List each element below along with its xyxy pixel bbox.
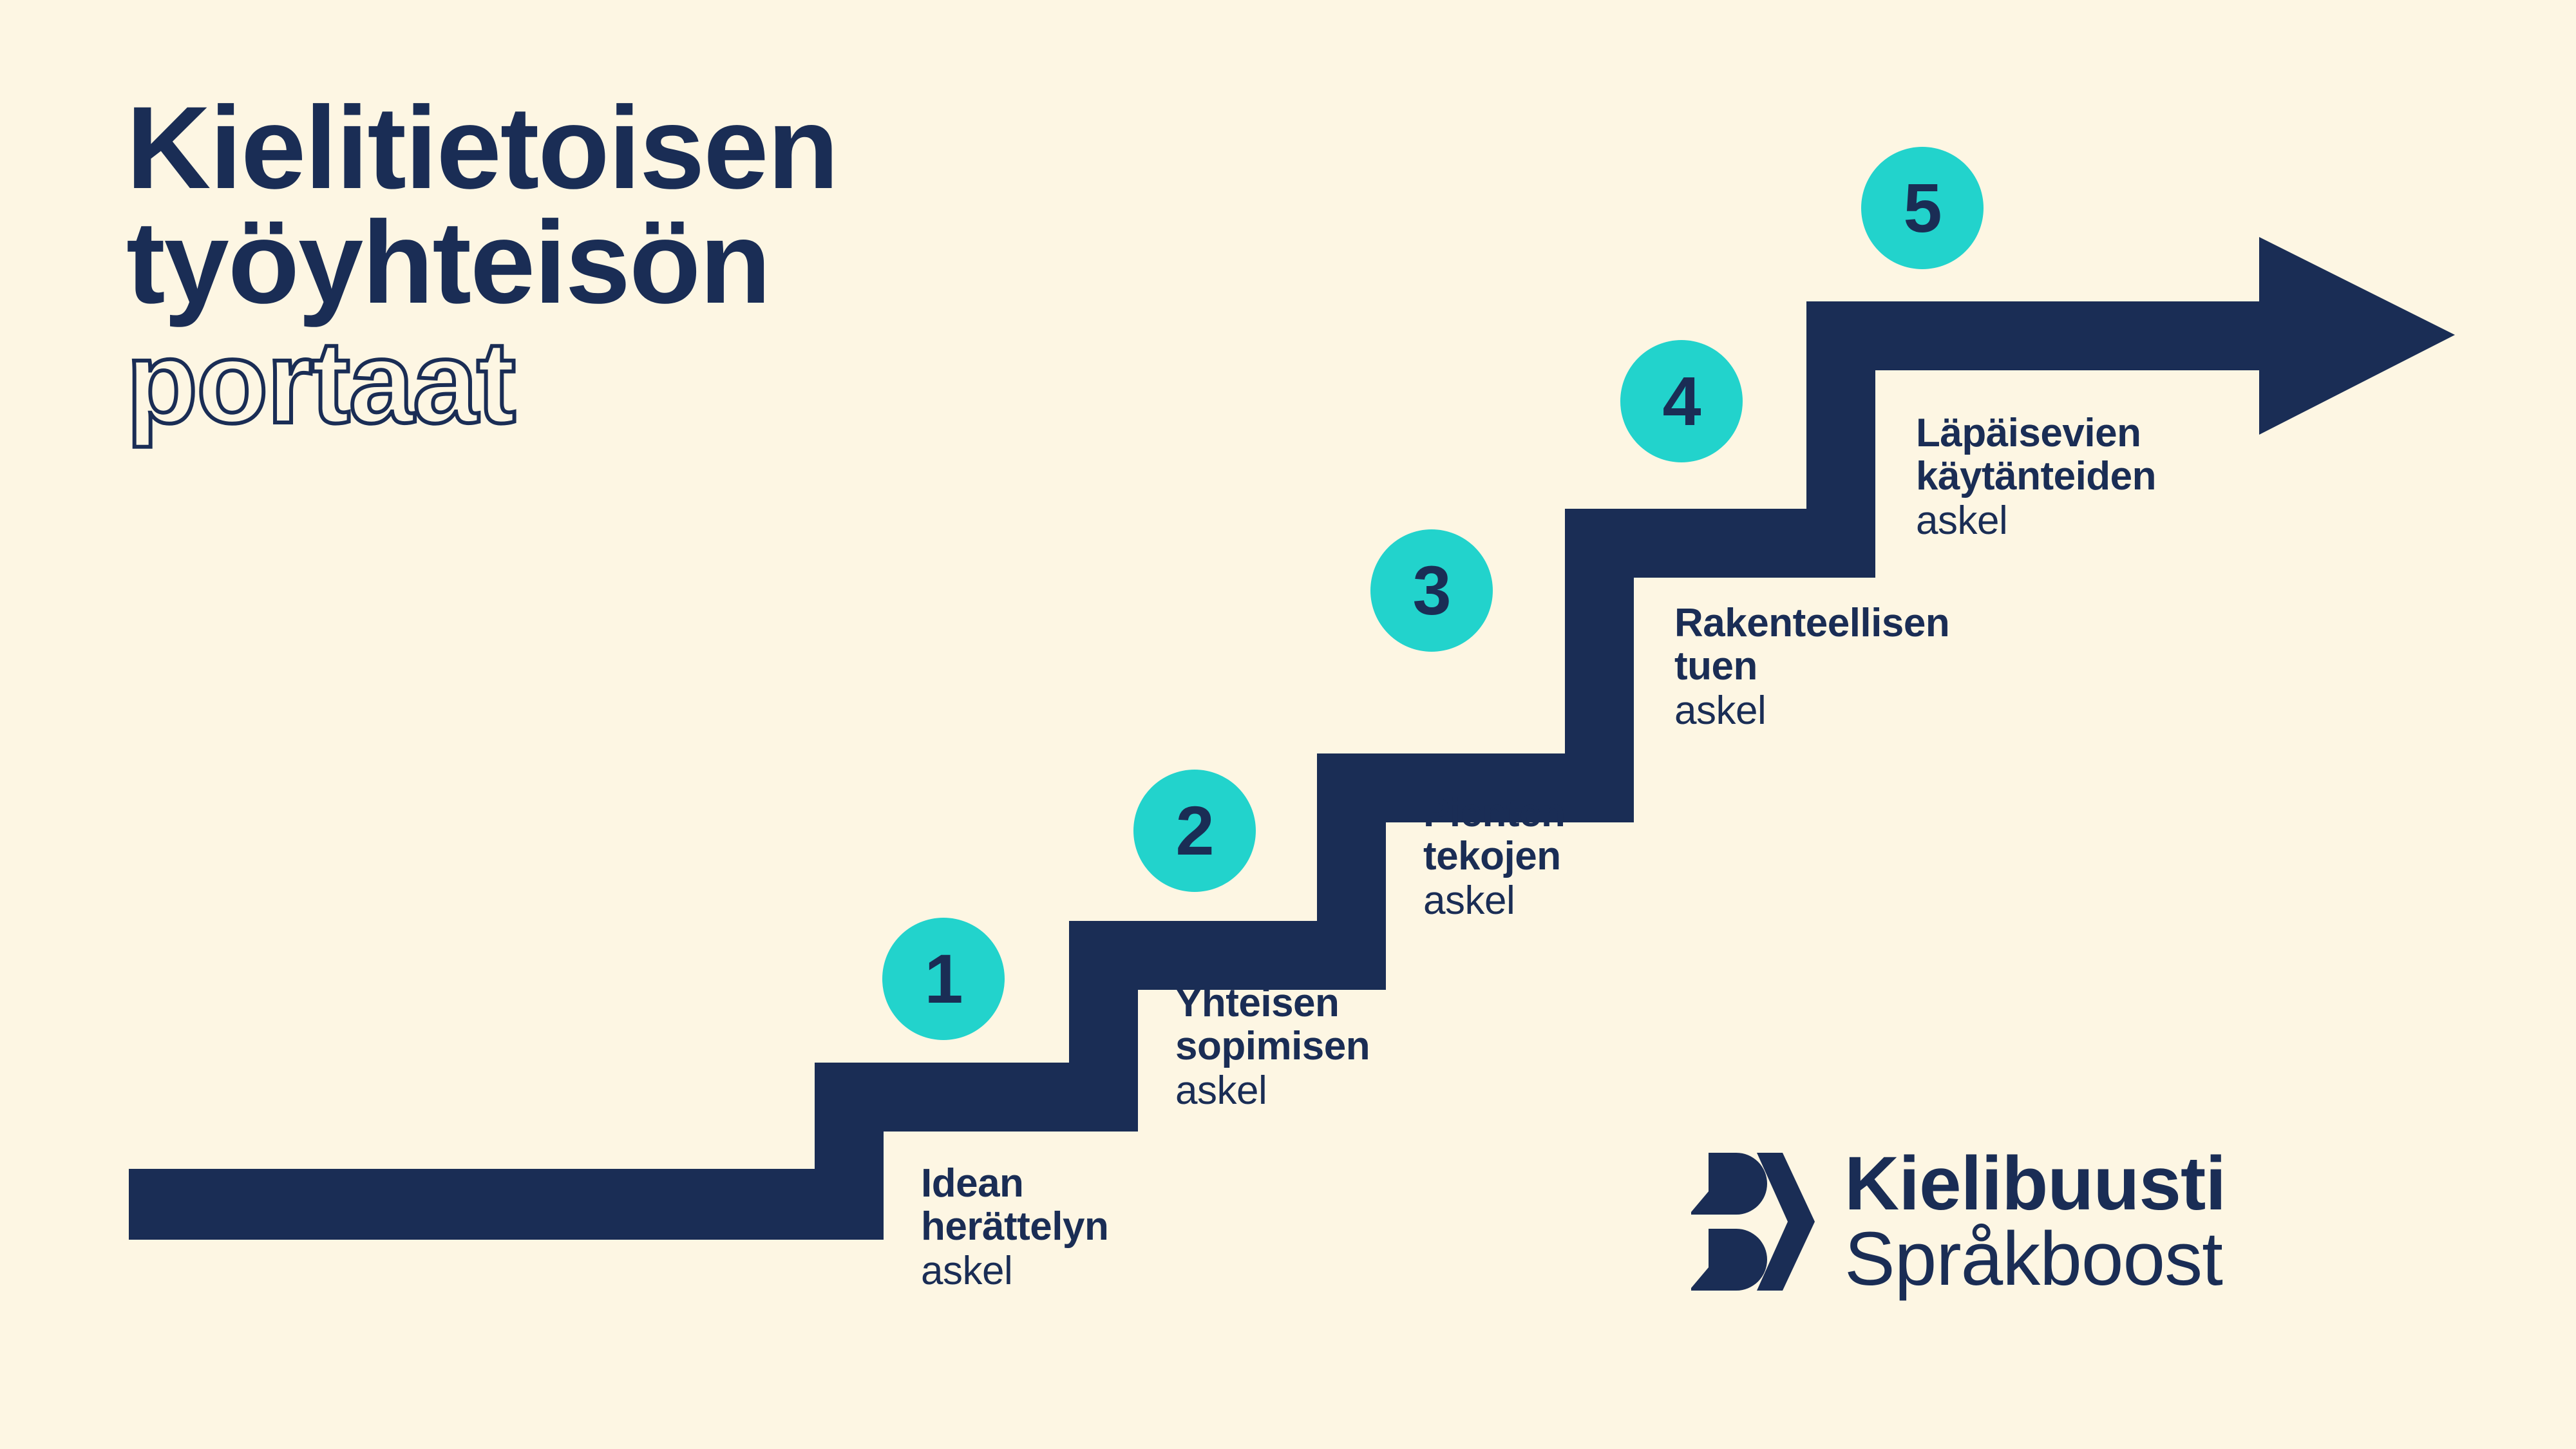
step-badge-2[interactable]: 2 [1133, 770, 1256, 892]
kielibuusti-logo[interactable]: Kielibuusti Språkboost [1680, 1146, 2226, 1297]
step-badge-1-number: 1 [924, 944, 962, 1014]
step-label-4-subtitle: askel [1674, 688, 1949, 733]
step-label-2: Yhteisen sopimisen askel [1175, 982, 1370, 1113]
step-badge-4[interactable]: 4 [1620, 340, 1743, 462]
step-label-5: Läpäisevien käytänteiden askel [1916, 412, 2156, 543]
step-label-5-line-1: Läpäisevien [1916, 412, 2156, 455]
step-label-5-subtitle: askel [1916, 498, 2156, 543]
step-label-2-subtitle: askel [1175, 1068, 1370, 1113]
step-label-3-line-2: tekojen [1423, 835, 1565, 878]
step-label-4-line-2: tuen [1674, 645, 1949, 688]
step-label-2-line-1: Yhteisen [1175, 982, 1370, 1025]
step-label-3-line-1: Pienten [1423, 792, 1565, 835]
logo-wordmark: Kielibuusti Språkboost [1844, 1146, 2226, 1297]
step-badge-2-number: 2 [1175, 796, 1213, 866]
step-label-3: Pienten tekojen askel [1423, 792, 1565, 923]
step-badge-5[interactable]: 5 [1861, 147, 1984, 269]
step-label-3-subtitle: askel [1423, 878, 1565, 923]
step-label-4-line-1: Rakenteellisen [1674, 602, 1949, 645]
step-badge-1[interactable]: 1 [882, 918, 1005, 1040]
logo-name-sv: Språkboost [1844, 1222, 2226, 1297]
step-label-4: Rakenteellisen tuen askel [1674, 602, 1949, 733]
infographic-canvas: Kielitietoisen työyhteisön portaat 1 2 3… [0, 0, 2576, 1449]
step-badge-3[interactable]: 3 [1370, 529, 1493, 652]
step-label-2-line-2: sopimisen [1175, 1025, 1370, 1068]
kielibuusti-b-chevron-icon [1680, 1148, 1815, 1296]
step-badge-5-number: 5 [1903, 173, 1941, 243]
step-label-5-line-2: käytänteiden [1916, 455, 2156, 498]
step-label-1-line-1: Idean [921, 1162, 1108, 1206]
logo-name-fi: Kielibuusti [1844, 1146, 2226, 1222]
step-label-1-subtitle: askel [921, 1249, 1108, 1293]
step-badge-4-number: 4 [1662, 366, 1700, 436]
step-label-1-line-2: herättelyn [921, 1206, 1108, 1249]
step-badge-3-number: 3 [1412, 556, 1450, 625]
step-label-1: Idean herättelyn askel [921, 1162, 1108, 1293]
